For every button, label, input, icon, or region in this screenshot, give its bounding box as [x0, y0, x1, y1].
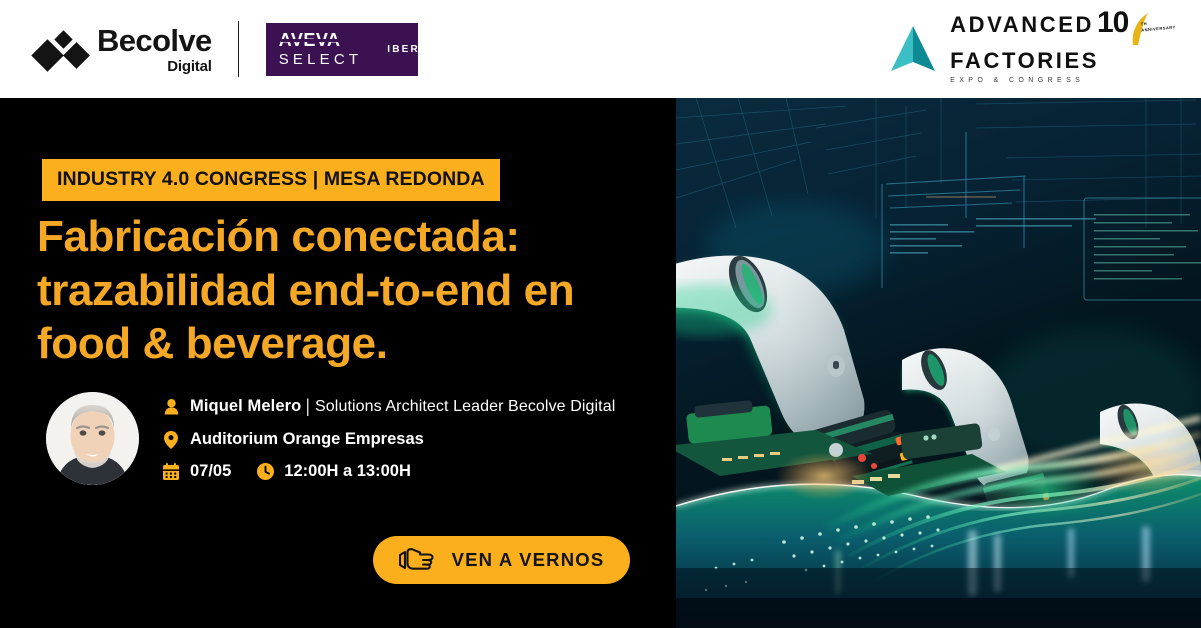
becolve-subtitle: Digital: [97, 59, 212, 74]
af-triangle-icon: [887, 24, 939, 74]
header-divider: [238, 21, 239, 77]
location-text: Auditorium Orange Empresas: [190, 430, 424, 449]
datetime-row: 07/05 12:00H a 13:00H: [162, 462, 615, 481]
speaker-details: Miquel Melero | Solutions Architect Lead…: [162, 396, 615, 481]
cta-label: VEN A VERNOS: [452, 549, 605, 571]
becolve-name: Becolve: [97, 25, 212, 56]
speaker-name: Miquel Melero: [190, 397, 301, 416]
promo-banner: Becolve Digital AVEVA SELECT IBERIA: [0, 0, 1201, 628]
becolve-digital-logo: Becolve Digital: [36, 25, 212, 74]
diamonds-icon: [36, 29, 88, 69]
avatar: [46, 392, 139, 485]
speaker-separator: |: [305, 396, 310, 417]
content-panel: INDUSTRY 4.0 CONGRESS | MESA REDONDA Fab…: [0, 98, 676, 628]
map-pin-icon: [162, 431, 180, 449]
location-row: Auditorium Orange Empresas: [162, 430, 615, 449]
speaker-role: Solutions Architect Leader Becolve Digit…: [315, 398, 615, 416]
header-bar: Becolve Digital AVEVA SELECT IBERIA: [0, 0, 1201, 98]
person-icon: [162, 399, 180, 415]
header-logos-left: Becolve Digital AVEVA SELECT IBERIA: [36, 21, 418, 77]
speaker-row: Miquel Melero | Solutions Architect Lead…: [162, 396, 615, 417]
advanced-factories-logo: ADVANCED 10 TH ANNIVERSARY FACTORIES EXP…: [887, 14, 1169, 84]
aveva-wordmark: AVEVA: [279, 31, 363, 49]
pointing-hand-icon: [399, 547, 435, 573]
speaker-block: Miquel Melero | Solutions Architect Lead…: [46, 392, 615, 485]
calendar-icon: [162, 463, 180, 480]
aveva-region-label: IBERIA: [387, 44, 434, 55]
af-anniversary-number: 10: [1097, 8, 1128, 38]
af-line1: ADVANCED: [950, 14, 1094, 36]
aveva-select-iberia-logo: AVEVA SELECT IBERIA: [266, 23, 418, 76]
time-text: 12:00H a 13:00H: [284, 462, 411, 481]
aveva-select-text: SELECT: [279, 52, 363, 67]
session-badge: INDUSTRY 4.0 CONGRESS | MESA REDONDA: [42, 159, 500, 201]
af-anniversary-label: TH ANNIVERSARY: [1141, 19, 1176, 34]
date-text: 07/05: [190, 462, 231, 481]
af-line2: FACTORIES: [950, 50, 1169, 72]
af-anniversary-mark: 10 TH ANNIVERSARY: [1097, 14, 1169, 48]
banner-body: INDUSTRY 4.0 CONGRESS | MESA REDONDA Fab…: [0, 98, 1201, 628]
af-line3: EXPO & CONGRESS: [950, 77, 1169, 84]
page-title: Fabricación conectada: trazabilidad end-…: [37, 210, 647, 371]
robotic-arms-image: [676, 98, 1201, 628]
ven-a-vernos-button[interactable]: VEN A VERNOS: [373, 536, 630, 584]
clock-icon: [256, 463, 274, 480]
